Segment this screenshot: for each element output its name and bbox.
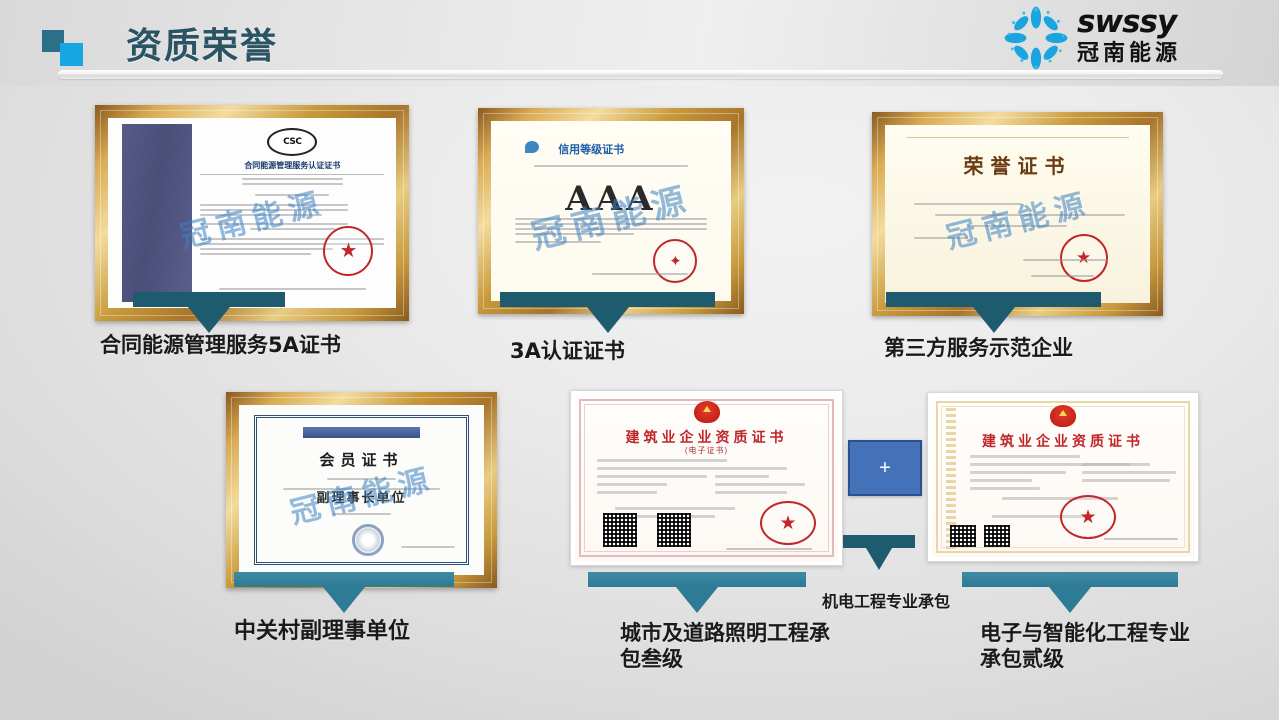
slide-canvas: 资质荣誉 swssy [0,0,1279,720]
caption-electronic-intelligent: 电子与智能化工程专业承包贰级 [980,620,1205,673]
arrow-aaa-credit [500,292,715,333]
ribbon-banner [303,427,421,438]
arrow-road-lighting [588,572,806,613]
add-certificate-button[interactable]: + [848,440,922,496]
arrow-csc-5a [133,292,285,333]
caption-third-party-demo: 第三方服务示范企业 [884,335,1073,361]
cert-title-text: 荣誉证书 [885,150,1150,179]
certificate-image-aaa-credit[interactable]: 信用等级证书 AAA ✦ 冠南能源 [478,108,744,314]
arrow-mechanical-electrical [843,535,915,570]
qr-code-icon [657,513,691,547]
company-logo: swssy 冠南能源 [1003,4,1259,72]
qr-code-icon [603,513,637,547]
logo-wordmark: swssy [1077,7,1181,38]
certificate-image-third-party-demo[interactable]: 荣誉证书 ★ 冠南能源 [872,112,1163,316]
certificate-image-member-unit[interactable]: 会员证书 副理事长单位 冠南能源 [226,392,497,588]
caption-road-lighting: 城市及道路照明工程承包叁级 [620,620,830,673]
cert-subtitle-text: (电子证书) [575,445,838,456]
certificate-image-electronic-intelligent[interactable]: 建筑业企业资质证书 ★ [927,392,1199,562]
arrow-member-unit [234,572,454,613]
caption-member-unit: 中关村副理事单位 [234,618,410,646]
plus-icon: + [879,458,891,478]
cert-side-band [122,124,191,303]
caption-mechanical-electrical: 机电工程专业承包 [822,592,950,612]
red-seal-icon: ★ [1060,495,1116,539]
qr-code-icon [984,525,1010,547]
cert-title-text: 建筑业企业资质证书 [575,427,838,447]
cert-title-text: 信用等级证书 [558,141,624,157]
cert-grade-text: AAA [491,179,731,219]
red-seal-icon: ✦ [653,239,697,283]
header-square-light [60,43,83,66]
national-emblem-icon [694,401,720,423]
caption-csc-5a: 合同能源管理服务5A证书 [100,332,341,358]
caption-aaa-credit: 3A认证证书 [510,338,625,364]
qr-code-icon [950,525,976,547]
cert-title-text: 合同能源管理服务认证证书 [200,160,384,171]
cert-subtitle-text: 副理事长单位 [239,487,484,506]
swssy-droplet-mark [1003,6,1069,70]
logo-subtitle: 冠南能源 [1077,43,1181,65]
red-seal-icon: ★ [760,501,816,545]
medal-icon [352,524,384,556]
cert-title-text: 建筑业企业资质证书 [932,431,1194,451]
red-seal-icon: ★ [323,226,373,276]
csc-logo-icon [267,128,317,156]
certificate-image-road-lighting[interactable]: 建筑业企业资质证书 (电子证书) ★ [570,390,843,566]
credit-rating-logo-icon [525,141,539,153]
page-title: 资质荣誉 [126,17,278,69]
national-emblem-icon [1050,405,1076,427]
arrow-third-party-demo [886,292,1101,333]
arrow-electronic-intelligent [962,572,1178,613]
certificate-image-csc-5a[interactable]: 合同能源管理服务认证证书 ★ [95,105,409,321]
cert-title-text: 会员证书 [239,449,484,470]
